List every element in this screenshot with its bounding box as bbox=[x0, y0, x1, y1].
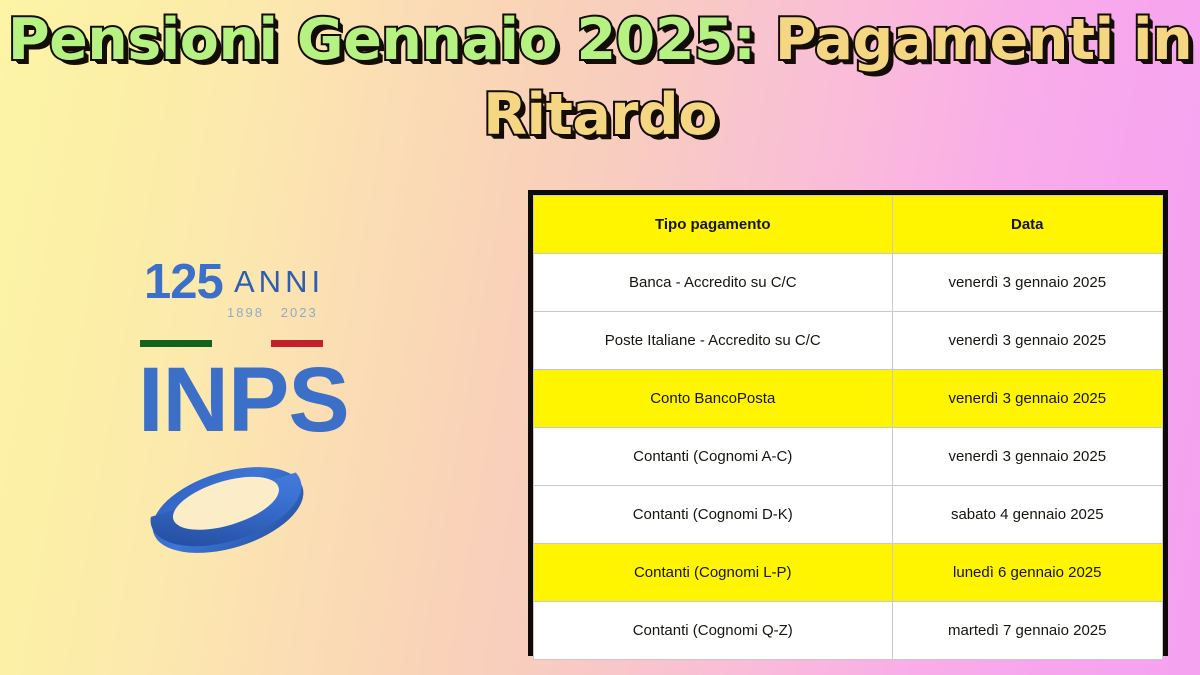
title-line-2: Ritardo bbox=[0, 69, 1200, 144]
column-header-data: Data bbox=[892, 196, 1162, 254]
cell-data: venerdì 3 gennaio 2025 bbox=[892, 312, 1162, 370]
cell-data: martedì 7 gennaio 2025 bbox=[892, 602, 1162, 660]
anniversary-label: ANNI bbox=[234, 266, 324, 297]
table-row: Contanti (Cognomi L-P)lunedì 6 gennaio 2… bbox=[534, 544, 1163, 602]
table-row: Poste Italiane - Accredito su C/Cvenerdì… bbox=[534, 312, 1163, 370]
cell-tipo-pagamento: Poste Italiane - Accredito su C/C bbox=[534, 312, 893, 370]
title-segment-green: Pensioni Gennaio 2025: bbox=[8, 7, 756, 73]
cell-tipo-pagamento: Contanti (Cognomi L-P) bbox=[534, 544, 893, 602]
anniversary-number: 125 bbox=[144, 258, 223, 307]
cell-data: lunedì 6 gennaio 2025 bbox=[892, 544, 1162, 602]
table-body: Banca - Accredito su C/Cvenerdì 3 gennai… bbox=[534, 254, 1163, 660]
inps-wordmark: INPS bbox=[138, 354, 349, 446]
cell-data: sabato 4 gennaio 2025 bbox=[892, 486, 1162, 544]
table-row: Contanti (Cognomi D-K)sabato 4 gennaio 2… bbox=[534, 486, 1163, 544]
title-segment-gold: Pagamenti in bbox=[755, 7, 1192, 73]
anniversary-years: 1898 2023 bbox=[227, 306, 318, 319]
column-header-tipo-pagamento: Tipo pagamento bbox=[534, 196, 893, 254]
payment-schedule-table: Tipo pagamento Data Banca - Accredito su… bbox=[528, 190, 1168, 656]
cell-tipo-pagamento: Contanti (Cognomi A-C) bbox=[534, 428, 893, 486]
flag-red-bar bbox=[271, 340, 323, 347]
italian-flag-divider bbox=[138, 340, 323, 347]
cell-data: venerdì 3 gennaio 2025 bbox=[892, 254, 1162, 312]
inps-logo: 125 ANNI 1898 2023 INPS bbox=[138, 262, 338, 572]
table-row: Conto BancoPostavenerdì 3 gennaio 2025 bbox=[534, 370, 1163, 428]
cell-tipo-pagamento: Contanti (Cognomi Q-Z) bbox=[534, 602, 893, 660]
cell-data: venerdì 3 gennaio 2025 bbox=[892, 370, 1162, 428]
table-header-row: Tipo pagamento Data bbox=[534, 196, 1163, 254]
table-row: Contanti (Cognomi Q-Z)martedì 7 gennaio … bbox=[534, 602, 1163, 660]
anniversary-lockup: 125 ANNI 1898 2023 bbox=[138, 262, 328, 324]
cell-data: venerdì 3 gennaio 2025 bbox=[892, 428, 1162, 486]
cell-tipo-pagamento: Contanti (Cognomi D-K) bbox=[534, 486, 893, 544]
table-row: Contanti (Cognomi A-C)venerdì 3 gennaio … bbox=[534, 428, 1163, 486]
page-title: Pensioni Gennaio 2025: Pagamenti in Rita… bbox=[0, 6, 1200, 144]
cell-tipo-pagamento: Banca - Accredito su C/C bbox=[534, 254, 893, 312]
infographic-canvas: Pensioni Gennaio 2025: Pagamenti in Rita… bbox=[0, 0, 1200, 675]
title-line-1: Pensioni Gennaio 2025: Pagamenti in bbox=[0, 6, 1200, 69]
table-row: Banca - Accredito su C/Cvenerdì 3 gennai… bbox=[534, 254, 1163, 312]
flag-green-bar bbox=[140, 340, 212, 347]
cell-tipo-pagamento: Conto BancoPosta bbox=[534, 370, 893, 428]
inps-ring-icon bbox=[146, 460, 311, 560]
